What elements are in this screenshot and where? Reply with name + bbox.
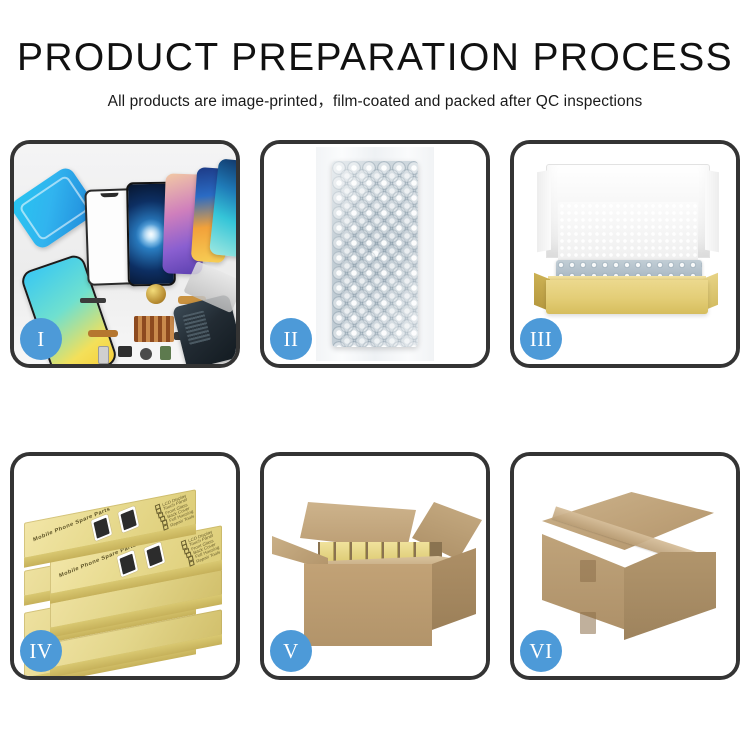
carton-front — [304, 564, 432, 646]
product-preparation-infographic: PRODUCT PREPARATION PROCESS All products… — [0, 0, 750, 750]
page-title: PRODUCT PREPARATION PROCESS — [0, 0, 750, 80]
circuit-board-icon — [134, 316, 174, 342]
step-badge-3: III — [520, 318, 562, 360]
steps-grid: I II — [10, 140, 740, 680]
step-panel-5: V — [260, 452, 490, 680]
sim-tray-icon — [98, 346, 109, 364]
carton-hand-hole — [580, 560, 596, 582]
antenna-strip-icon — [80, 298, 106, 303]
step-panel-4: Mobile Phone Spare Parts LCD Display Tou… — [10, 452, 240, 680]
speaker-part-icon — [146, 284, 166, 304]
step-badge-1: I — [20, 318, 62, 360]
bubble-pouch-inner — [332, 161, 418, 347]
page-subtitle: All products are image-printed，film-coat… — [0, 80, 750, 111]
carton-hand-hole — [580, 612, 596, 634]
chip-icon — [118, 346, 132, 357]
step-badge-5: V — [270, 630, 312, 672]
step-badge-2: II — [270, 318, 312, 360]
step-panel-2: II — [260, 140, 490, 368]
battery-connector-icon — [160, 346, 171, 360]
camera-lens-icon — [140, 348, 152, 360]
step-panel-3: III — [510, 140, 740, 368]
mailer-front — [546, 280, 708, 314]
foam-sheet — [558, 202, 698, 264]
step-badge-4: IV — [20, 630, 62, 672]
header: PRODUCT PREPARATION PROCESS All products… — [0, 0, 750, 111]
step-panel-1: I — [10, 140, 240, 368]
step-panel-6: VI — [510, 452, 740, 680]
plastic-sheen — [332, 161, 418, 347]
flex-cable-icon — [88, 330, 118, 337]
step-badge-6: VI — [520, 630, 562, 672]
bubble-pouch-outer — [316, 147, 434, 361]
sealed-carton-side — [624, 552, 716, 640]
